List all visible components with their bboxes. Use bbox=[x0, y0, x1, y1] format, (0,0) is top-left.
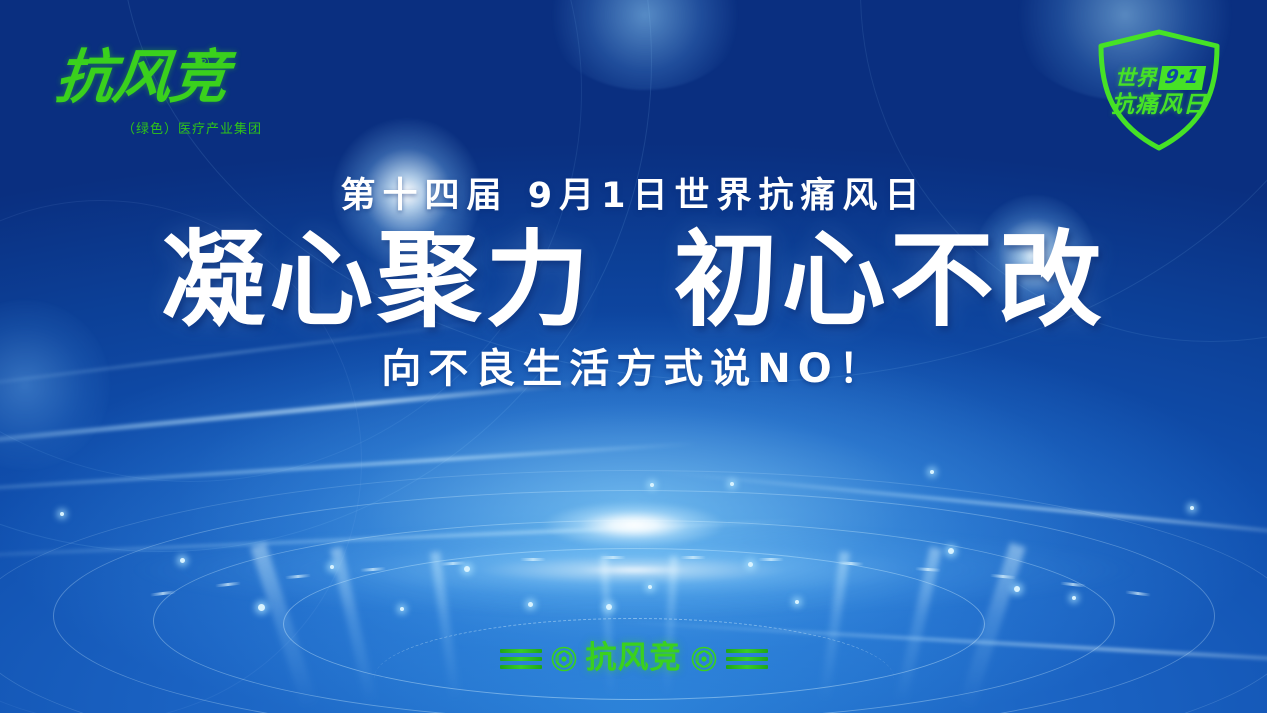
world-gout-day-shield-badge[interactable]: 世界 9·1 抗痛风日 bbox=[1089, 26, 1229, 154]
deco-lines-left bbox=[500, 649, 542, 669]
stage-ring bbox=[0, 470, 1267, 713]
stage-tick bbox=[150, 590, 176, 596]
footer-brand-strip: 抗风竞 bbox=[500, 643, 768, 674]
light-particle bbox=[1014, 586, 1020, 592]
stage-tick bbox=[915, 567, 941, 572]
stage-tick bbox=[600, 556, 626, 559]
stage-tick bbox=[990, 574, 1016, 579]
shield-icon bbox=[1089, 26, 1229, 154]
light-particle bbox=[528, 602, 533, 607]
deco-line bbox=[500, 665, 542, 669]
seal-emblem-icon-right bbox=[691, 646, 717, 672]
light-particle bbox=[180, 558, 185, 563]
shield-date-badge: 9·1 bbox=[1158, 66, 1206, 90]
light-particle bbox=[400, 607, 404, 611]
brand-logo[interactable]: 抗风竞 ® （绿色）医疗产业集团 bbox=[56, 48, 246, 140]
stage-tick bbox=[1060, 582, 1086, 588]
poster-canvas: 抗风竞 ® （绿色）医疗产业集团 世界 9·1 抗痛风日 第十四届 9月1日世界… bbox=[0, 0, 1267, 713]
light-streak bbox=[660, 470, 1267, 541]
event-eyebrow-line: 第十四届 9月1日世界抗痛风日 bbox=[0, 175, 1267, 219]
deco-line bbox=[726, 657, 768, 661]
stage-ring bbox=[53, 490, 1215, 713]
deco-line bbox=[726, 665, 768, 669]
shield-prefix-label: 世界 bbox=[1115, 68, 1157, 89]
light-particle bbox=[648, 585, 652, 589]
headline-block: 第十四届 9月1日世界抗痛风日 凝心聚力 初心不改 向不良生活方式说NO！ bbox=[0, 175, 1267, 393]
light-particle bbox=[748, 562, 753, 567]
stage-tick bbox=[838, 561, 864, 565]
deco-line bbox=[500, 657, 542, 661]
horizon-glow bbox=[0, 505, 1267, 635]
light-particle bbox=[330, 565, 334, 569]
light-beam bbox=[894, 547, 942, 706]
light-particle bbox=[795, 600, 799, 604]
light-particle bbox=[948, 548, 954, 554]
stage-tick bbox=[215, 582, 241, 588]
light-particle bbox=[258, 604, 265, 611]
stage-tick bbox=[285, 574, 311, 579]
light-streak bbox=[0, 519, 799, 564]
deco-line bbox=[500, 649, 542, 653]
light-beam bbox=[958, 543, 1026, 710]
deco-line bbox=[726, 649, 768, 653]
stage-tick bbox=[520, 558, 546, 561]
light-beam bbox=[819, 551, 850, 701]
center-flare bbox=[519, 495, 749, 555]
glow-orb bbox=[545, 0, 745, 90]
light-particle bbox=[464, 566, 470, 572]
shield-top-line: 世界 9·1 bbox=[1097, 66, 1221, 90]
light-beam bbox=[330, 547, 378, 706]
seal-emblem-icon-left bbox=[551, 646, 577, 672]
light-particle bbox=[1190, 506, 1194, 510]
light-beam bbox=[250, 543, 318, 710]
brand-logo-subtitle: （绿色）医疗产业集团 bbox=[122, 118, 262, 137]
stage-tick bbox=[1125, 590, 1151, 596]
registered-trademark-icon: ® bbox=[198, 54, 209, 71]
light-particle bbox=[606, 604, 612, 610]
stage-tick bbox=[680, 556, 706, 559]
light-particle bbox=[730, 482, 734, 486]
page-subtitle: 向不良生活方式说NO！ bbox=[0, 345, 1267, 393]
light-particle bbox=[60, 512, 64, 516]
stage-tick bbox=[440, 561, 466, 565]
deco-lines-right bbox=[726, 649, 768, 669]
footer-brand-text: 抗风竞 bbox=[586, 643, 682, 674]
light-beam bbox=[430, 551, 461, 701]
light-streak bbox=[0, 441, 698, 502]
page-title: 凝心聚力 初心不改 bbox=[0, 225, 1267, 335]
light-particle bbox=[650, 483, 654, 487]
shield-bottom-line: 抗痛风日 bbox=[1097, 94, 1221, 117]
stage-tick bbox=[758, 558, 784, 561]
stage-tick bbox=[360, 567, 386, 572]
stage-ring bbox=[153, 520, 1115, 713]
light-particle bbox=[1072, 596, 1076, 600]
light-particle bbox=[930, 470, 934, 474]
stage-ring bbox=[283, 548, 985, 700]
